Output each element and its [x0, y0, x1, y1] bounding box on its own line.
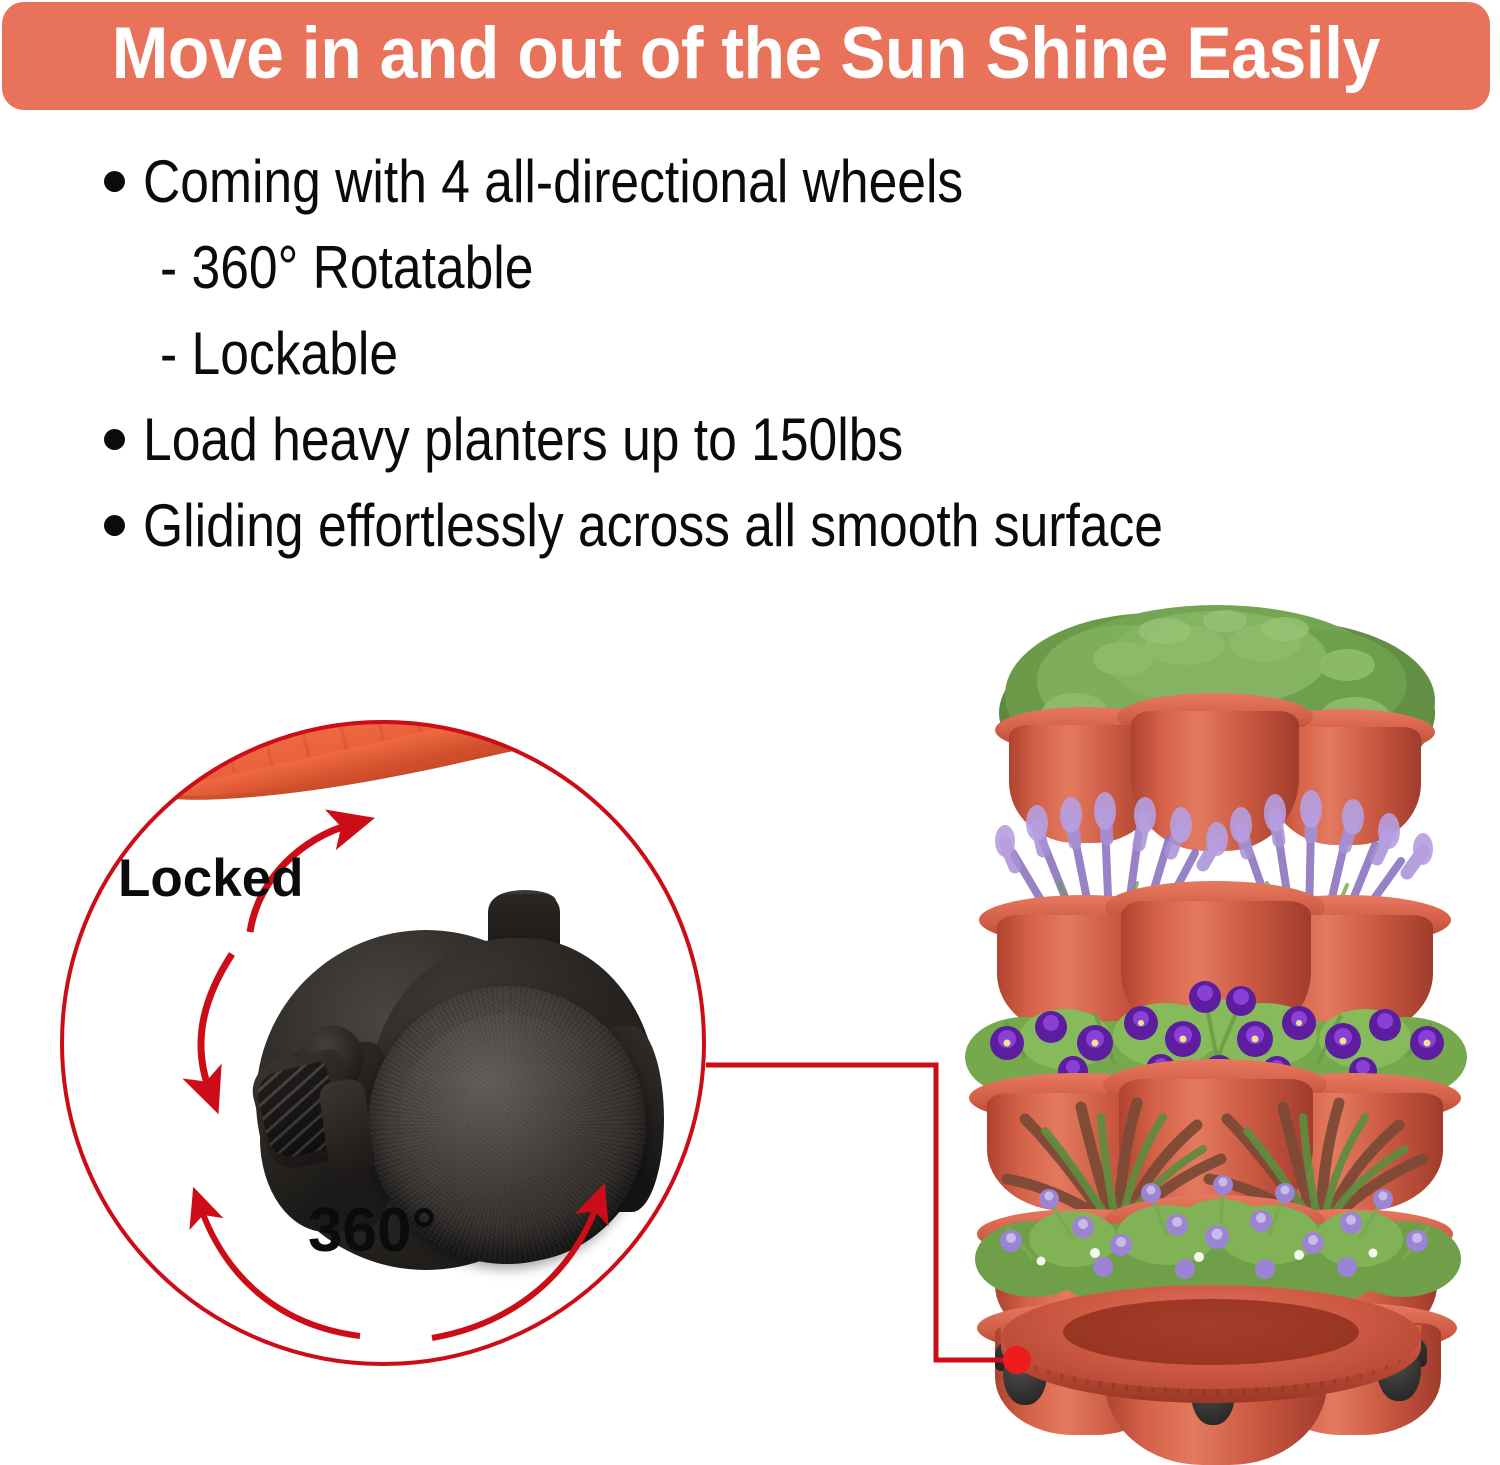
locked-label: Locked [118, 852, 304, 905]
callout-arrows [60, 720, 706, 1366]
page-title: Move in and out of the Sun Shine Easily [112, 17, 1380, 96]
bullet-icon [104, 429, 125, 450]
list-item: Load heavy planters up to 150lbs [104, 410, 1484, 496]
list-item-label: Gliding effortlessly across all smooth s… [143, 496, 1163, 556]
bullet-icon [104, 515, 125, 536]
list-item-label: Load heavy planters up to 150lbs [143, 410, 903, 470]
dolly-inner-well [1063, 1299, 1359, 1365]
stacked-planter-tower [955, 585, 1475, 1445]
rotation-arrow-right [432, 1202, 598, 1338]
list-item: Coming with 4 all-directional wheels [104, 152, 1484, 238]
locked-down-arrow [201, 954, 232, 1092]
connector-marker-dot [1003, 1346, 1031, 1374]
bullet-icon [104, 171, 125, 192]
caster-wheel-callout: Locked 360° [60, 720, 706, 1366]
caster-dolly-base [1001, 1285, 1421, 1417]
list-item: - 360° Rotatable [104, 238, 1484, 324]
list-item-label: - Lockable [160, 324, 398, 384]
header-banner: Move in and out of the Sun Shine Easily [2, 2, 1490, 110]
feature-list: Coming with 4 all-directional wheels - 3… [104, 152, 1484, 582]
list-item-label: Coming with 4 all-directional wheels [143, 152, 963, 212]
list-item: Gliding effortlessly across all smooth s… [104, 496, 1484, 582]
list-item-label: - 360° Rotatable [160, 238, 533, 298]
list-item: - Lockable [104, 324, 1484, 410]
rotation-degrees-label: 360° [308, 1200, 436, 1262]
